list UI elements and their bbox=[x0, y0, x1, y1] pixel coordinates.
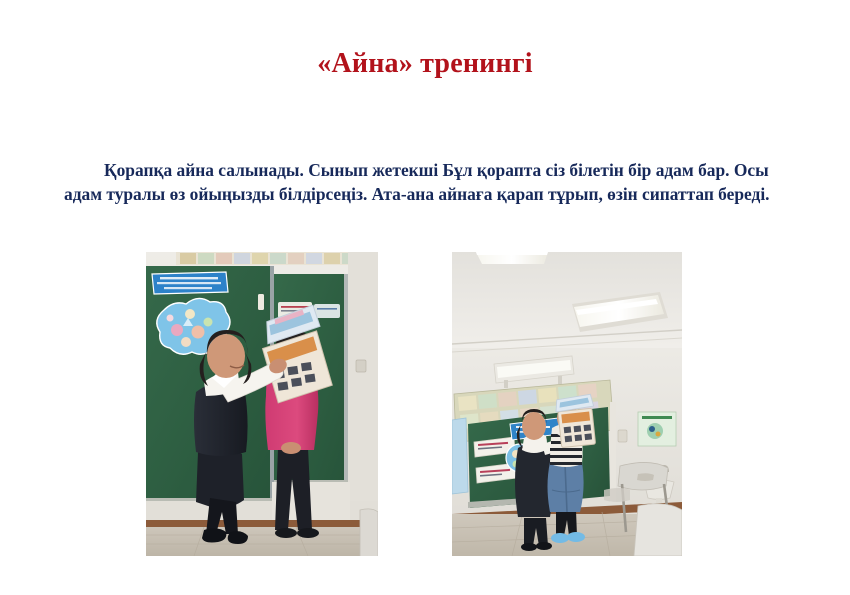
presentation-slide: «Айна» тренингі Қорапқа айна салынады. С… bbox=[0, 0, 850, 595]
classroom-photo-right-graphic bbox=[452, 252, 682, 556]
page-title: «Айна» тренингі bbox=[0, 48, 850, 80]
classroom-photo-left-graphic bbox=[146, 252, 378, 556]
classroom-photo-left bbox=[146, 252, 378, 556]
classroom-photo-right bbox=[452, 252, 682, 556]
slide-body-text: Қорапқа айна салынады. Сынып жетекші Бұл… bbox=[64, 158, 790, 206]
